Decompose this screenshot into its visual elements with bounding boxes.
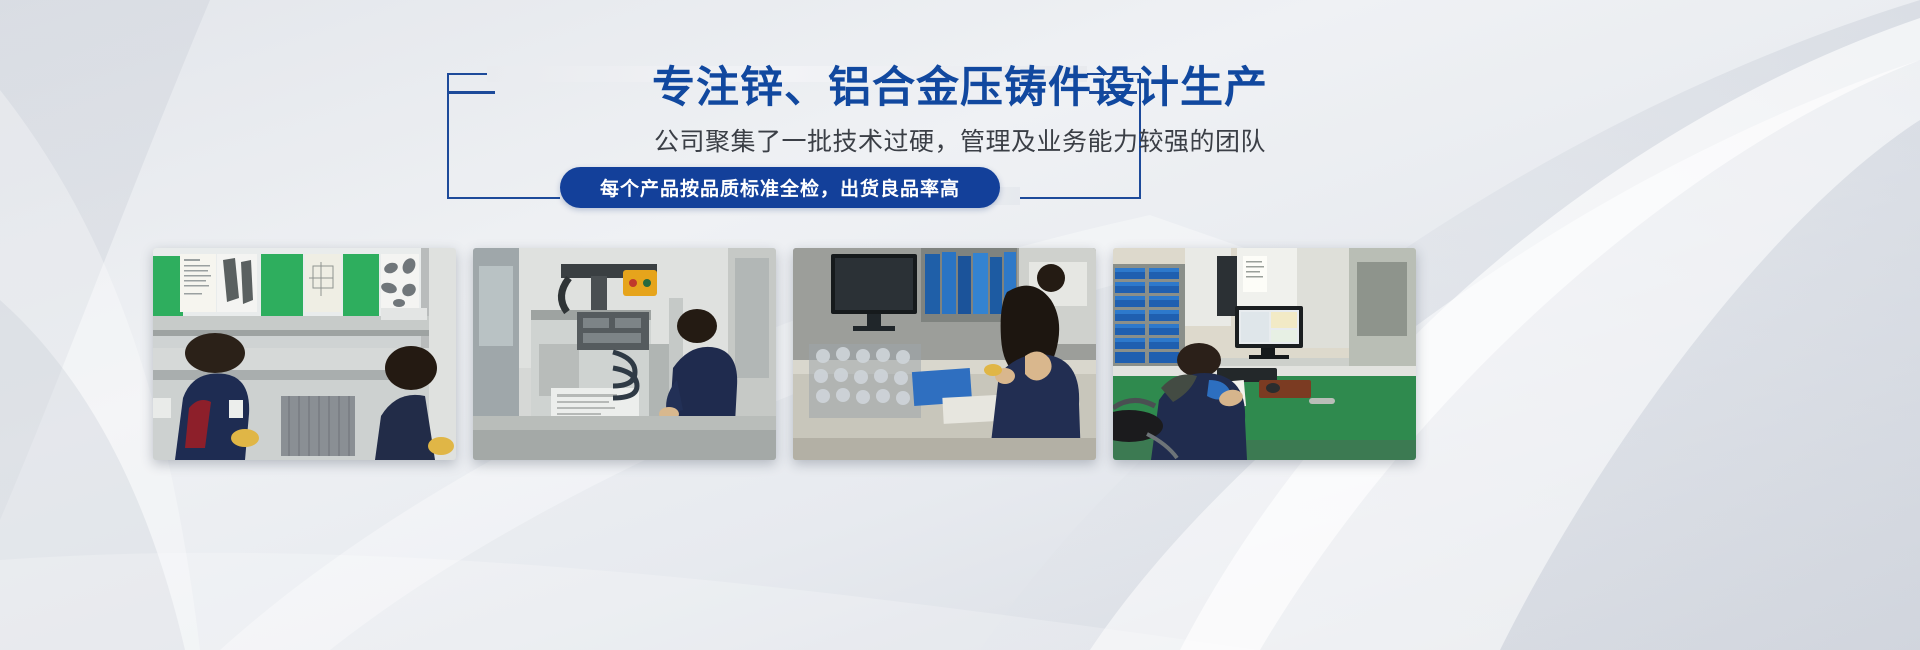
- banner-stage: 专注锌、铝合金压铸件设计生产 公司聚集了一批技术过硬，管理及业务能力较强的团队 …: [0, 0, 1920, 650]
- banner-title: 专注锌、铝合金压铸件设计生产: [0, 60, 1920, 116]
- photo-cmm-measuring-room[interactable]: [1113, 248, 1416, 460]
- photo-die-casting-machine[interactable]: [473, 248, 776, 460]
- photo-quality-inspection[interactable]: [793, 248, 1096, 460]
- photo-assembly-line[interactable]: [153, 248, 456, 460]
- photo-gallery: [0, 248, 1920, 460]
- quality-badge: 每个产品按品质标准全检，出货良品率高: [560, 167, 1000, 208]
- banner-subtitle: 公司聚集了一批技术过硬，管理及业务能力较强的团队: [0, 122, 1920, 162]
- hero-text-block: 专注锌、铝合金压铸件设计生产 公司聚集了一批技术过硬，管理及业务能力较强的团队 …: [0, 0, 1920, 232]
